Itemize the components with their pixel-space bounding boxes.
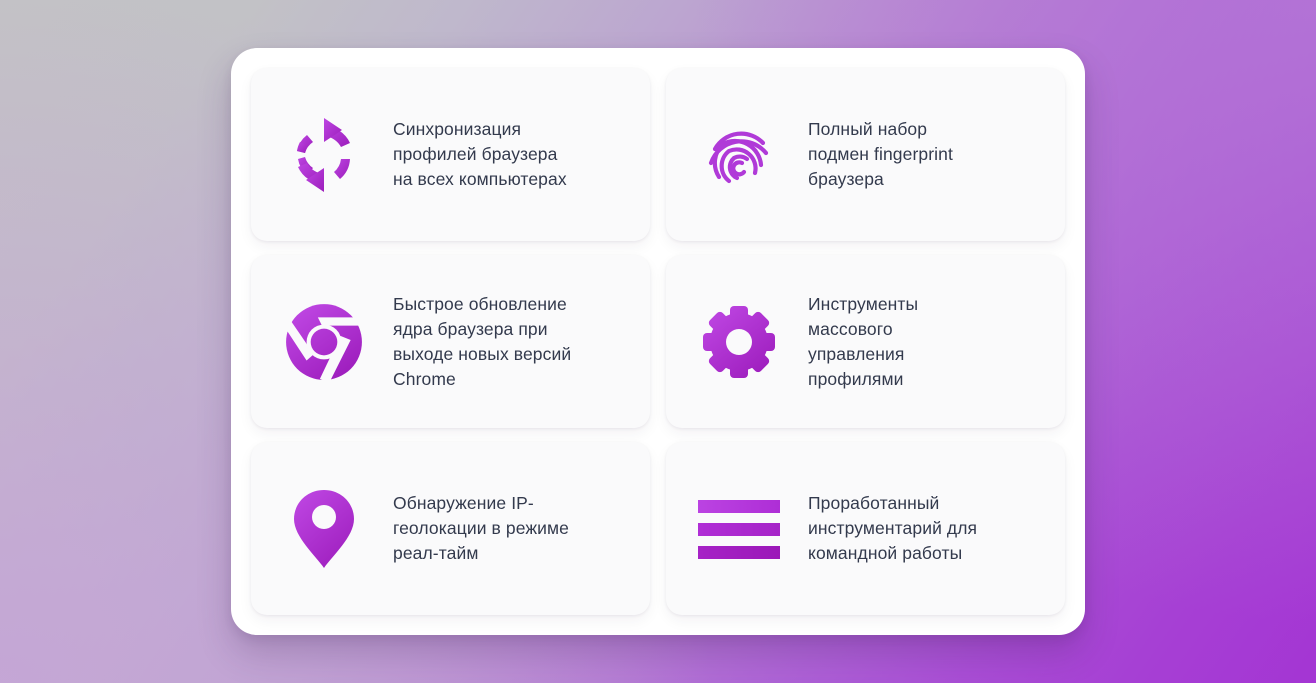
map-pin-icon [281,486,367,572]
gear-icon [696,299,782,385]
feature-card-gear[interactable]: Инструменты массового управления профиля… [666,255,1065,428]
sync-arrows-icon [281,112,367,198]
feature-card-sync[interactable]: Синхронизация профилей браузера на всех … [251,68,650,241]
feature-card-label: Инструменты массового управления профиля… [808,292,918,392]
feature-card-label: Синхронизация профилей браузера на всех … [393,117,567,192]
stacked-bars-icon [696,486,782,572]
features-panel: Синхронизация профилей браузера на всех … [231,48,1085,635]
feature-card-geolocation[interactable]: Обнаружение IP- геолокации в режиме реал… [251,442,650,615]
feature-card-label: Быстрое обновление ядра браузера при вых… [393,292,571,392]
feature-card-label: Проработанный инструментарий для командн… [808,491,977,566]
feature-card-team-tools[interactable]: Проработанный инструментарий для командн… [666,442,1065,615]
fingerprint-icon [696,112,782,198]
feature-card-fingerprint[interactable]: Полный набор подмен fingerprint браузера [666,68,1065,241]
feature-card-label: Полный набор подмен fingerprint браузера [808,117,953,192]
chrome-logo-icon [281,299,367,385]
feature-card-chrome[interactable]: Быстрое обновление ядра браузера при вых… [251,255,650,428]
feature-card-label: Обнаружение IP- геолокации в режиме реал… [393,491,569,566]
